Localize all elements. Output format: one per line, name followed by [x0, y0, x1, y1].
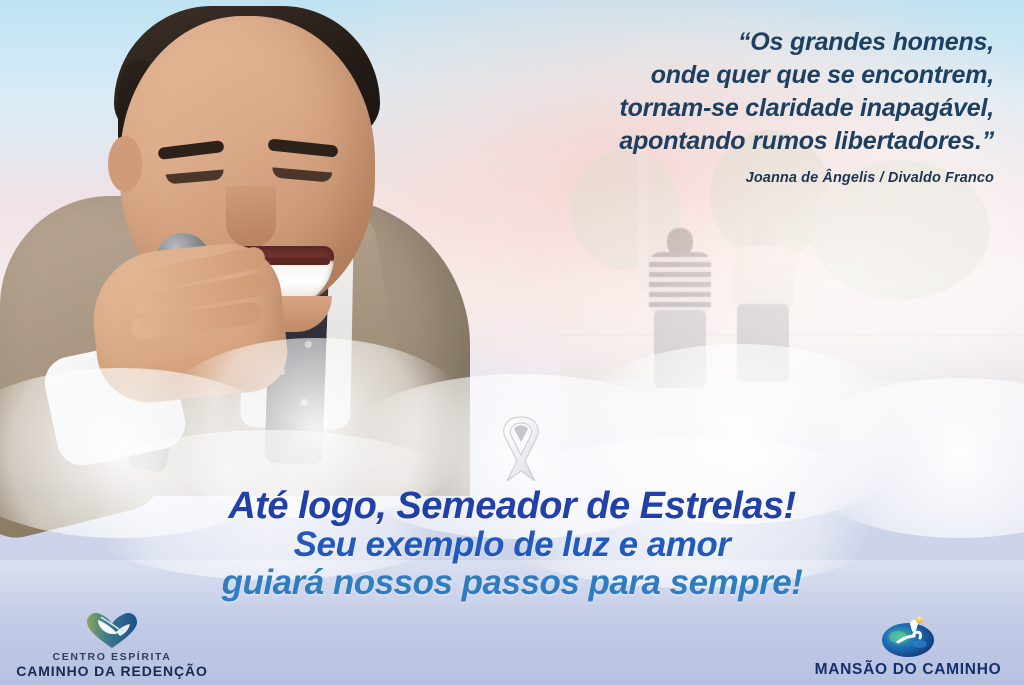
logo-left-line-2: CAMINHO DA REDENÇÃO: [14, 663, 210, 679]
white-ribbon-icon: [487, 409, 555, 487]
headline-block: Até logo, Semeador de Estrelas! Seu exem…: [0, 486, 1024, 602]
quote-block: “Os grandes homens, onde quer que se enc…: [430, 26, 994, 186]
logo-left-line-1: CENTRO ESPÍRITA: [14, 651, 210, 663]
headline-line-1: Até logo, Semeador de Estrelas!: [0, 486, 1024, 526]
quote-line-2: onde quer que se encontrem,: [430, 59, 994, 92]
memorial-poster: “Os grandes homens, onde quer que se enc…: [0, 0, 1024, 685]
headline-line-2: Seu exemplo de luz e amor: [0, 526, 1024, 564]
logo-centro-espirita: CENTRO ESPÍRITA CAMINHO DA REDENÇÃO: [14, 611, 210, 679]
globe-figure-torch-icon: [802, 616, 1014, 658]
quote-line-4: apontando rumos libertadores.”: [430, 125, 994, 158]
hands-heart-icon: [14, 611, 210, 649]
logo-mansao-do-caminho: MANSÃO DO CAMINHO: [802, 616, 1014, 679]
quote-line-1: “Os grandes homens,: [430, 26, 994, 59]
quote-attribution: Joanna de Ângelis / Divaldo Franco: [430, 170, 994, 186]
headline-line-3: guiará nossos passos para sempre!: [0, 564, 1024, 602]
logo-right-line-1: MANSÃO DO CAMINHO: [802, 661, 1014, 679]
quote-line-3: tornam-se claridade inapagável,: [430, 92, 994, 125]
